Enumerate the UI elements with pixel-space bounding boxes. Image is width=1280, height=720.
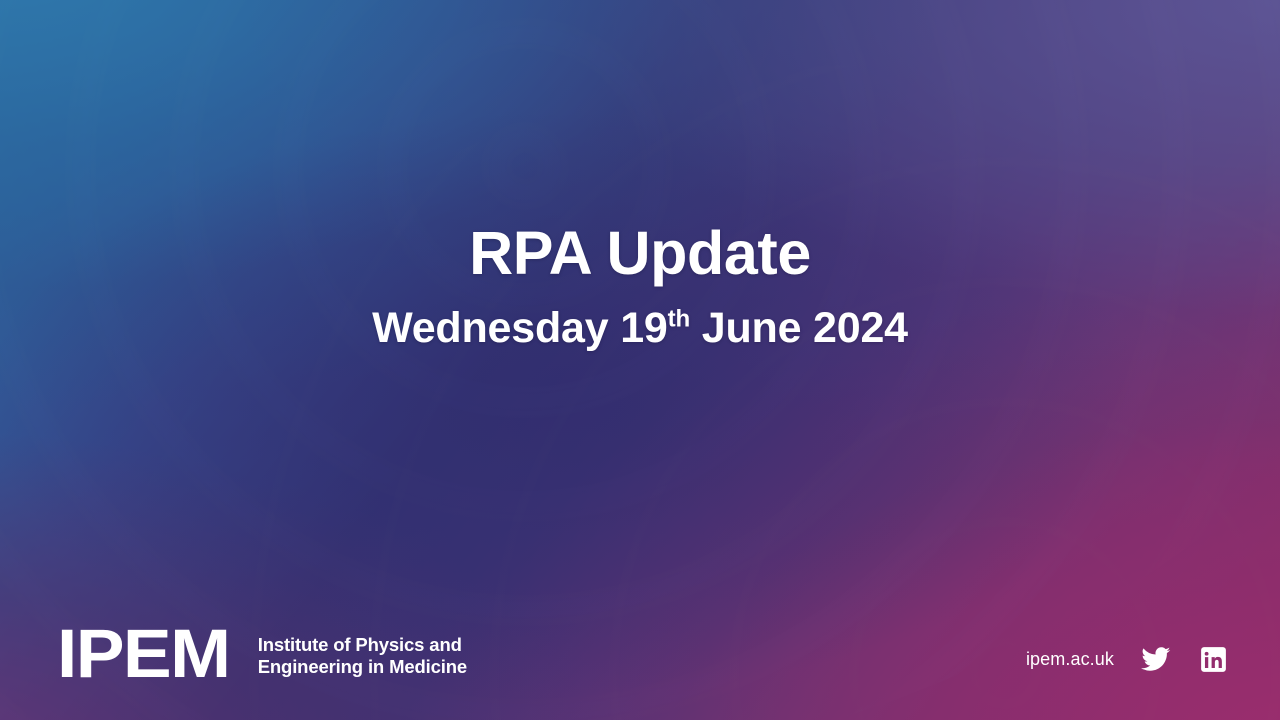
ipem-tagline: Institute of Physics and Engineering in … bbox=[258, 634, 467, 683]
ipem-tagline-line-1: Institute of Physics and bbox=[258, 634, 462, 655]
date-month-year: June 2024 bbox=[690, 304, 908, 352]
ipem-wordmark: IPEM bbox=[57, 626, 229, 683]
linkedin-icon[interactable] bbox=[1198, 644, 1228, 674]
ipem-tagline-line-2: Engineering in Medicine bbox=[258, 656, 467, 677]
twitter-icon[interactable] bbox=[1141, 644, 1171, 674]
date-ordinal-suffix: th bbox=[668, 306, 690, 333]
logo-divider bbox=[236, 628, 238, 680]
presentation-slide: RPA Update Wednesday 19th June 2024 IPEM… bbox=[0, 0, 1280, 720]
background-glow-center bbox=[0, 0, 1280, 720]
headline-block: RPA Update Wednesday 19th June 2024 bbox=[0, 222, 1280, 351]
footer-contact-bar: ipem.ac.uk bbox=[1026, 644, 1228, 674]
website-url[interactable]: ipem.ac.uk bbox=[1026, 650, 1114, 668]
slide-title: RPA Update bbox=[0, 222, 1280, 284]
ipem-logo: IPEM Institute of Physics and Engineerin… bbox=[57, 626, 467, 683]
slide-subtitle-date: Wednesday 19th June 2024 bbox=[0, 306, 1280, 351]
date-prefix: Wednesday 19 bbox=[372, 304, 668, 352]
